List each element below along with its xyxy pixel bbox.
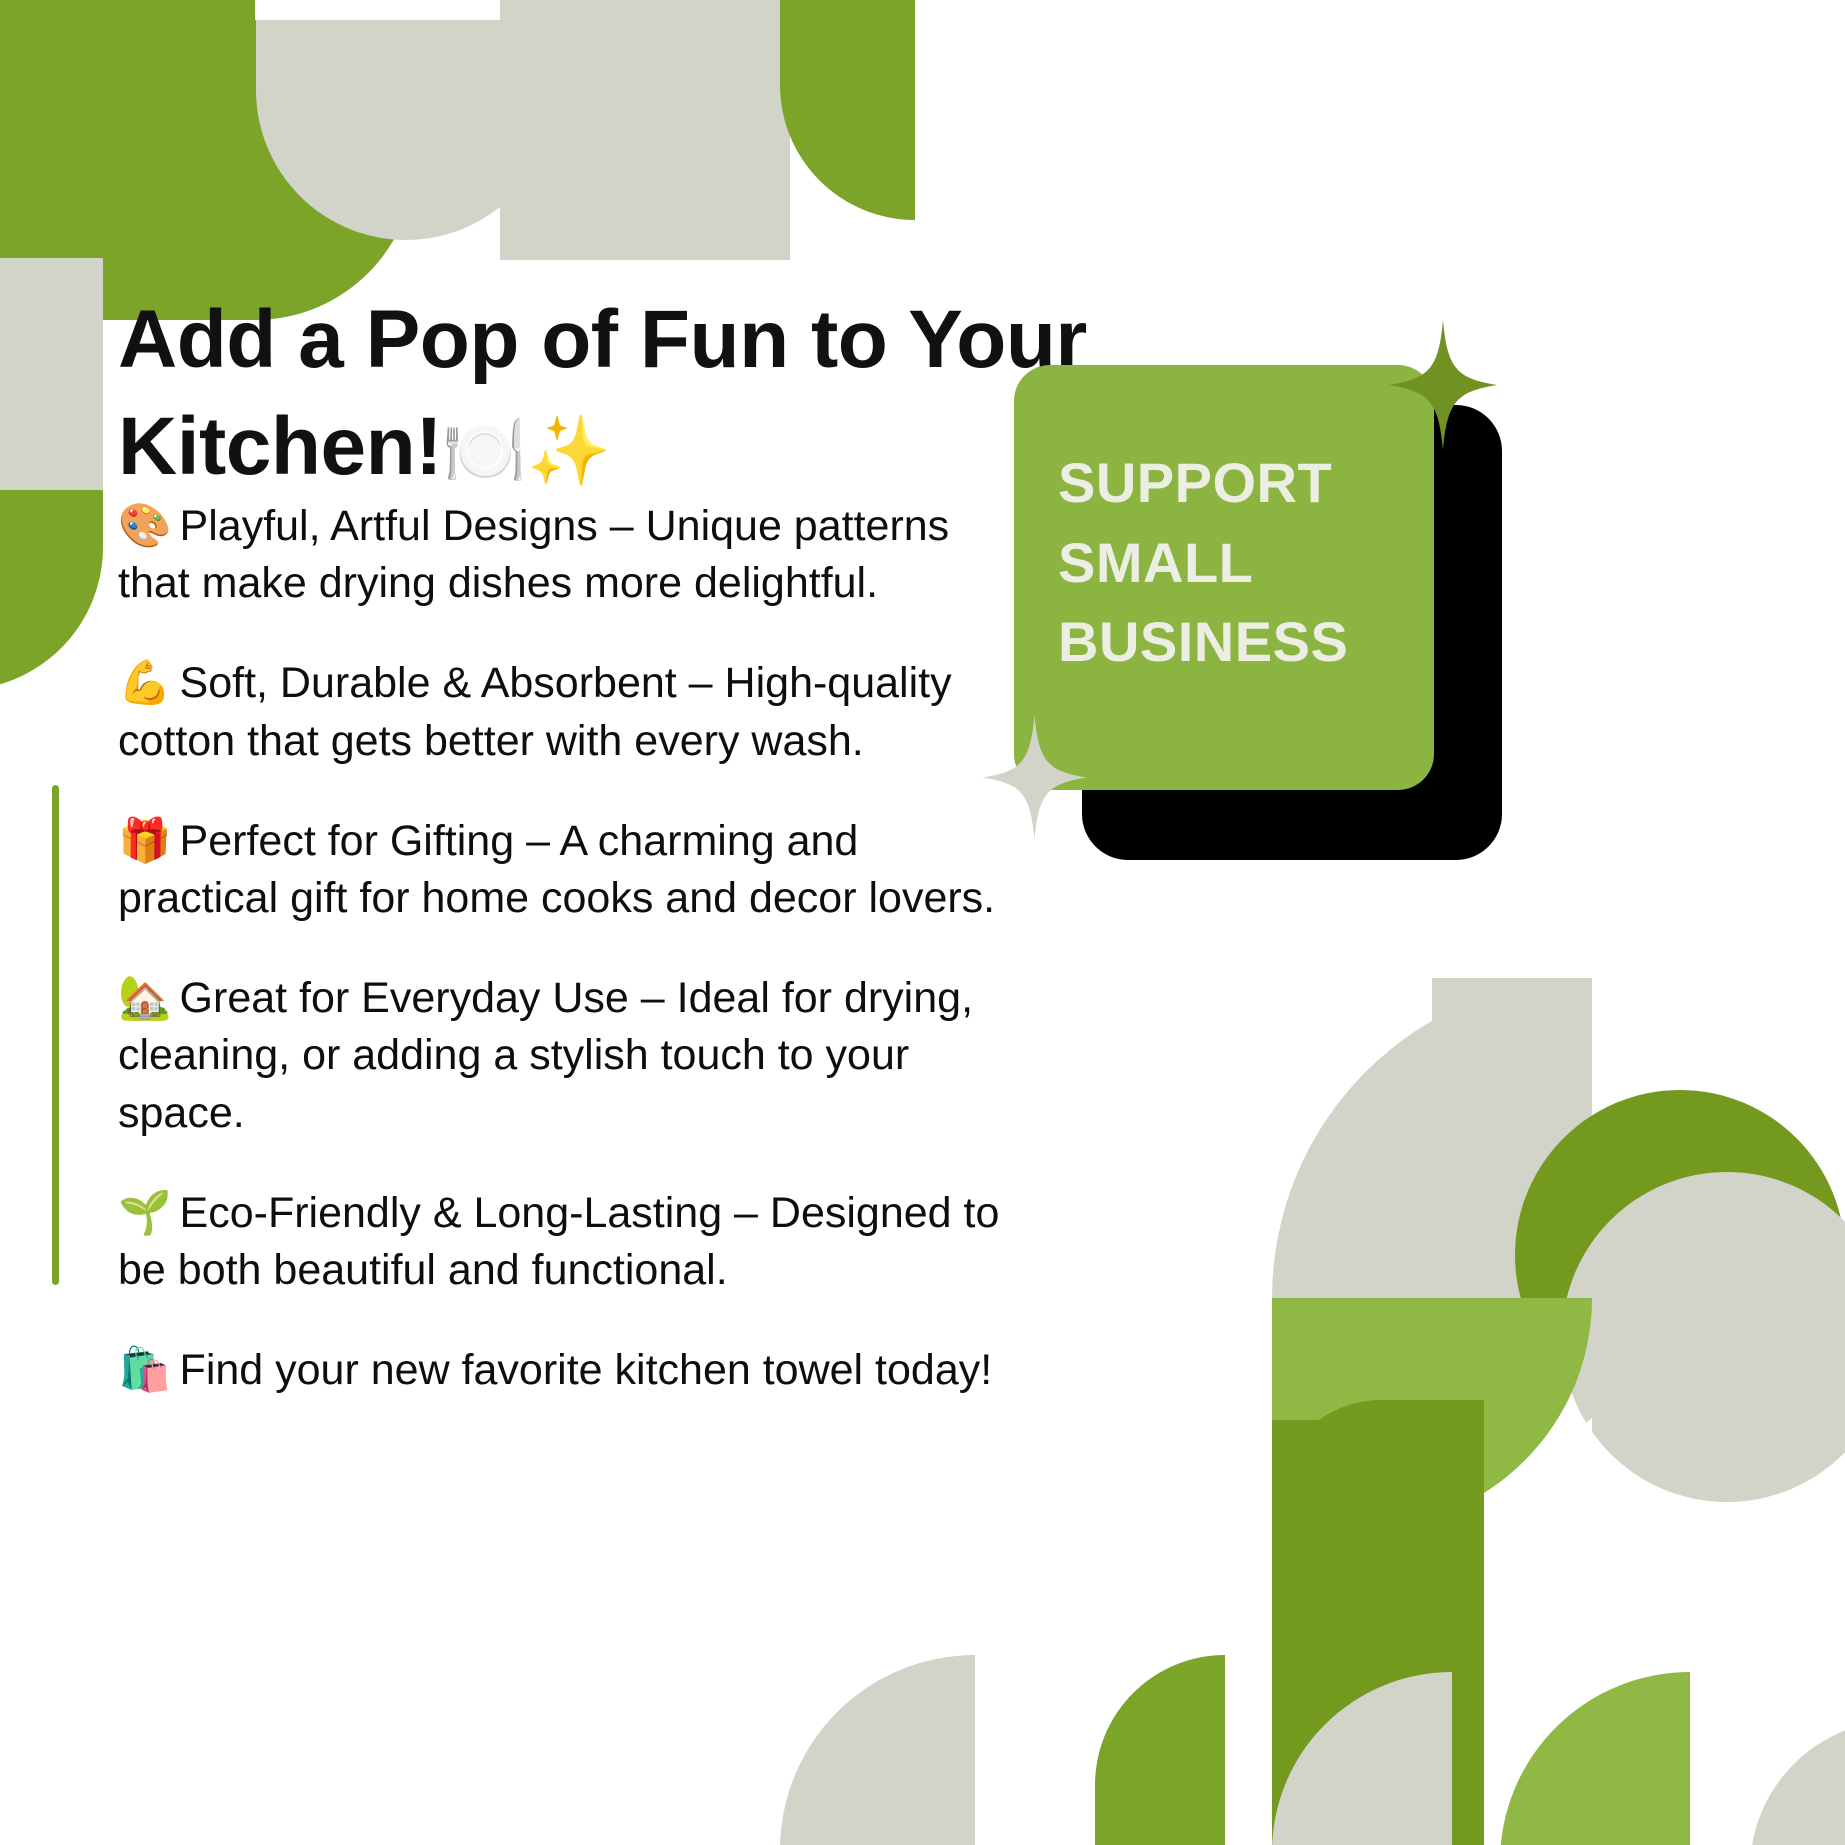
badge-line-1: SUPPORT [1058,443,1438,523]
feature-bullet-list: 🎨Playful, Artful Designs – Unique patter… [118,455,1018,1439]
decor-top-left-gray-ellipse [256,0,556,240]
decor-bottom-right-green-quarter-lower [1500,1672,1690,1845]
list-item-text: Perfect for Gifting – A charming and pra… [118,817,995,922]
decor-bottom-right-green-column-top [1272,1400,1484,1530]
list-item: 🎁Perfect for Gifting – A charming and pr… [118,813,1018,927]
artist-palette-emoji: 🎨 [118,502,172,550]
badge-line-2: SMALL [1058,523,1438,603]
decor-top-left-white-cut [255,0,505,20]
list-item-text: Playful, Artful Designs – Unique pattern… [118,502,949,607]
list-item: 🎨Playful, Artful Designs – Unique patter… [118,498,1018,612]
flexed-biceps-emoji: 💪 [118,659,172,707]
decor-top-center-gray-block [500,0,790,260]
list-item: 🛍️Find your new favorite kitchen towel t… [118,1342,1018,1399]
decor-bottom-right-lightgreen-quarter [1272,1298,1592,1528]
four-point-star-icon [1388,320,1498,450]
list-item: 🌱Eco-Friendly & Long-Lasting – Designed … [118,1185,1018,1299]
support-small-business-badge: SUPPORT SMALL BUSINESS [1014,365,1504,860]
decor-top-right-green-corner [780,0,915,220]
list-item: 💪Soft, Durable & Absorbent – High-qualit… [118,655,1018,769]
decor-bottom-right-gray-quarter-lower [1272,1672,1452,1845]
badge-label: SUPPORT SMALL BUSINESS [1058,443,1438,682]
list-item-text: Great for Everyday Use – Ideal for dryin… [118,974,973,1136]
shopping-bags-emoji: 🛍️ [118,1346,172,1394]
decor-bottom-center-gray-quarter [780,1655,975,1845]
seedling-emoji: 🌱 [118,1189,172,1237]
list-item-text: Find your new favorite kitchen towel tod… [180,1346,993,1394]
badge-line-3: BUSINESS [1058,602,1438,682]
headline-line-1: Add a Pop of Fun to Your [118,294,1087,385]
decor-bottom-center-green-quarter [1095,1655,1225,1845]
four-point-star-icon [982,715,1087,840]
list-item-text: Eco-Friendly & Long-Lasting – Designed t… [118,1189,999,1294]
decor-top-left-green-halfcircle [95,0,415,280]
decor-bottom-right-gray-quarter [1272,978,1592,1298]
decor-bottom-right-green-column [1272,1420,1484,1845]
list-item-text: Soft, Durable & Absorbent – High-quality… [118,659,952,764]
decor-top-left-green-wedge [0,0,200,290]
decor-green-vertical-rule [52,785,59,1285]
decor-bottom-right-white-notch [1522,1418,1592,1478]
decor-bottom-right-gray-square [1432,978,1592,1298]
decor-left-green-quarter [0,490,103,690]
wrapped-gift-emoji: 🎁 [118,817,172,865]
decor-top-center-gray-blob [500,0,790,260]
decor-bottom-right-gray-quarter-far [1750,1720,1845,1845]
list-item: 🏡Great for Everyday Use – Ideal for dryi… [118,970,1018,1142]
decor-bottom-right-green-circle [1515,1090,1845,1420]
house-with-garden-emoji: 🏡 [118,974,172,1022]
poster-canvas: Add a Pop of Fun to Your Kitchen!🍽️✨ 🎨Pl… [0,0,1845,1845]
decor-bottom-right-lightgreen-square [1272,1298,1472,1528]
decor-left-gray-rect [0,258,103,496]
decor-bottom-right-gray-circle [1562,1172,1845,1502]
